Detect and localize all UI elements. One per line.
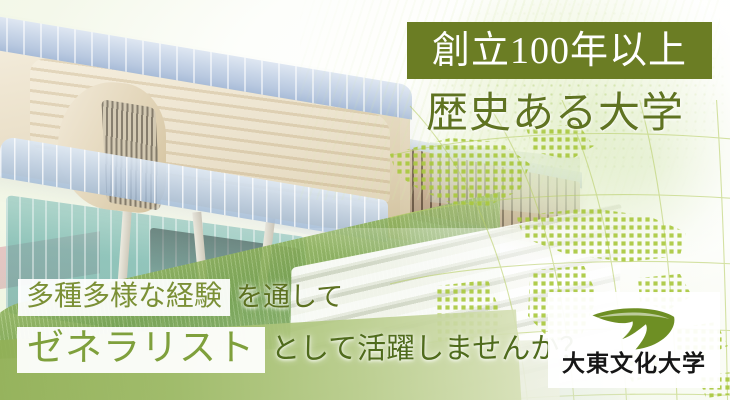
copy-line-1-tail: を通して — [236, 282, 343, 312]
copy-line-1: 多種多様な経験 を通して — [18, 279, 343, 316]
university-name: 大東文化大学 — [562, 353, 706, 376]
copy-line-2-highlight: ゼネラリスト — [17, 327, 265, 374]
daito-bunka-bird-mark-icon — [589, 305, 679, 351]
headline-line2: 歴史ある大学 — [426, 86, 716, 142]
copy-line-2-tail: として活躍しませんか？ — [271, 334, 588, 366]
copy-line-2: ゼネラリスト として活躍しませんか？ — [17, 327, 588, 373]
headline-line1: 創立100年以上 — [432, 32, 687, 70]
promo-banner: 創立100年以上 歴史ある大学 多種多様な経験 を通して ゼネラリスト として活… — [0, 0, 730, 400]
copy-line-1-highlight: 多種多様な経験 — [18, 279, 230, 315]
headline-box: 創立100年以上 — [407, 22, 712, 79]
university-logo[interactable]: 大東文化大学 — [548, 292, 720, 388]
